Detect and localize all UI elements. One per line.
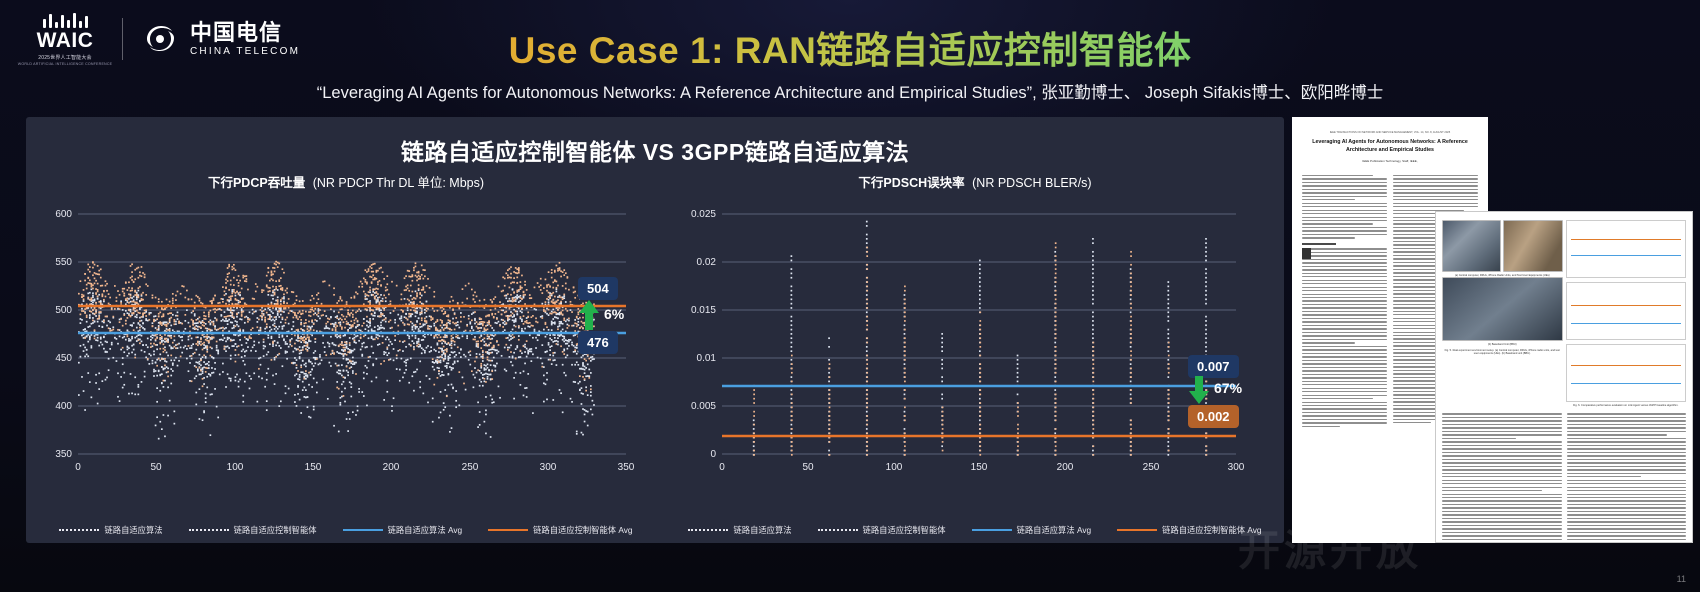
legend-item-1: 链路自适应控制智能体 — [818, 524, 946, 536]
arrow-down-icon-right — [1188, 376, 1210, 404]
svg-text:0.025: 0.025 — [691, 209, 716, 220]
arrow-up-icon-left — [578, 300, 600, 330]
legend-label-2: 链路自适应算法 Avg — [1017, 524, 1092, 536]
svg-text:0.02: 0.02 — [697, 257, 717, 268]
svg-text:500: 500 — [55, 305, 72, 316]
watermark: 开源开放 — [1238, 517, 1422, 578]
delta-label-right: 67% — [1214, 380, 1242, 396]
scatter-points-right — [753, 221, 1207, 456]
photo-central-computer — [1442, 220, 1501, 272]
figure-caption-left: Fig. 5. Real experiment environment setu… — [1442, 349, 1563, 356]
mini-chart-2 — [1566, 282, 1687, 340]
mini-chart-1 — [1566, 220, 1687, 278]
chart-pdsch-bler: 下行PDSCH误块率 (NR PDSCH BLER/s) 0.025 — [666, 172, 1284, 542]
figure-charts: Fig. 6. Comparative performance evaluati… — [1566, 220, 1687, 407]
badge-agent-avg-right: 0.002 — [1188, 405, 1239, 428]
legend-item-2: 链路自适应算法 Avg — [972, 524, 1092, 536]
svg-text:100: 100 — [886, 462, 903, 473]
chart-pdcp-throughput: 下行PDCP吞吐量 (NR PDCP Thr DL 单位: Mbps) — [26, 172, 666, 542]
figure-subcaption-a: (a) Central computer, RRUs, iPhone Radio… — [1442, 274, 1563, 277]
paper2-figures: (a) Central computer, RRUs, iPhone Radio… — [1436, 212, 1692, 409]
panel-title: 链路自适应控制智能体 VS 3GPP链路自适应算法 — [26, 133, 1284, 167]
paper2-column-left — [1442, 413, 1562, 542]
svg-text:350: 350 — [618, 462, 635, 473]
legend-left: 链路自适应算法 链路自适应控制智能体 链路自适应算法 Avg 链路自适应控制智能… — [26, 524, 666, 536]
photo-radio-units — [1503, 220, 1562, 272]
svg-text:0: 0 — [710, 449, 716, 460]
paper-authors: IEEE Publication Technology, Staff, IEEE… — [1304, 159, 1476, 163]
legend-item-1: 链路自适应控制智能体 — [189, 524, 317, 536]
legend-label-1: 链路自适应控制智能体 — [863, 524, 946, 536]
svg-text:150: 150 — [971, 462, 988, 473]
paper-venue: IEEE TRANSACTIONS ON NETWORK AND SERVICE… — [1304, 131, 1476, 134]
page-subtitle: “Leveraging AI Agents for Autonomous Net… — [0, 79, 1700, 103]
legend-label-0: 链路自适应算法 — [733, 524, 791, 536]
plot-area-right: 0.025 0.02 0.015 0.01 0.005 0 0 50 100 1… — [666, 196, 1284, 476]
legend-label-0: 链路自适应算法 — [104, 524, 162, 536]
svg-text:250: 250 — [462, 462, 479, 473]
svg-text:350: 350 — [55, 449, 72, 460]
svg-text:0: 0 — [719, 462, 725, 473]
svg-text:150: 150 — [305, 462, 322, 473]
photo-bbu — [1442, 277, 1563, 341]
svg-text:250: 250 — [1143, 462, 1160, 473]
svg-text:300: 300 — [1228, 462, 1245, 473]
y-ticks-right: 0.025 0.02 0.015 0.01 0.005 0 — [691, 209, 716, 460]
svg-text:400: 400 — [55, 401, 72, 412]
svg-text:450: 450 — [55, 353, 72, 364]
legend-item-0: 链路自适应算法 — [59, 524, 162, 536]
x-ticks-left: 0 50 100 150 200 250 300 350 — [75, 462, 635, 473]
legend-swatch-blue — [343, 529, 383, 531]
comparison-panel: 链路自适应控制智能体 VS 3GPP链路自适应算法 下行PDCP吞吐量 (NR … — [26, 117, 1284, 543]
delta-label-left: 6% — [604, 306, 624, 322]
legend-swatch-dotted — [818, 529, 858, 531]
chart-title-left-cn: 下行PDCP吞吐量 — [208, 176, 305, 190]
chart-title-left-unit: (NR PDCP Thr DL 单位: Mbps) — [313, 176, 484, 190]
legend-label-1: 链路自适应控制智能体 — [234, 524, 317, 536]
chart-title-right-unit: (NR PDSCH BLER/s) — [972, 176, 1091, 190]
legend-swatch-dotted — [688, 529, 728, 531]
y-ticks-left: 600 550 500 450 400 350 — [55, 209, 72, 460]
paper2-column-right — [1567, 413, 1687, 542]
figure-subcaption-b: (b) Baseband Unit (BBU) — [1442, 343, 1563, 346]
paper-thumbnail-page2: (a) Central computer, RRUs, iPhone Radio… — [1436, 212, 1692, 542]
plot-svg-right: 0.025 0.02 0.015 0.01 0.005 0 0 50 100 1… — [666, 196, 1284, 476]
scatter-points-left — [78, 261, 595, 440]
paper-head: IEEE TRANSACTIONS ON NETWORK AND SERVICE… — [1292, 117, 1488, 169]
badge-3gpp-avg-left: 476 — [578, 331, 618, 354]
svg-text:100: 100 — [227, 462, 244, 473]
legend-label-3: 链路自适应控制智能体 Avg — [533, 524, 632, 536]
paper2-columns — [1436, 409, 1692, 542]
svg-text:0.01: 0.01 — [697, 353, 717, 364]
figure-caption-right: Fig. 6. Comparative performance evaluati… — [1566, 404, 1687, 407]
mini-chart-3 — [1566, 344, 1687, 402]
legend-item-0: 链路自适应算法 — [688, 524, 791, 536]
figure-photos: (a) Central computer, RRUs, iPhone Radio… — [1442, 220, 1563, 407]
svg-text:200: 200 — [383, 462, 400, 473]
svg-text:600: 600 — [55, 209, 72, 220]
chart-title-right-cn: 下行PDSCH误块率 — [858, 176, 964, 190]
svg-text:300: 300 — [540, 462, 557, 473]
paper-title: Leveraging AI Agents for Autonomous Netw… — [1304, 139, 1476, 154]
svg-text:50: 50 — [150, 462, 162, 473]
legend-right: 链路自适应算法 链路自适应控制智能体 链路自适应算法 Avg 链路自适应控制智能… — [666, 524, 1284, 536]
legend-swatch-dotted — [189, 529, 229, 531]
svg-text:0.005: 0.005 — [691, 401, 716, 412]
paper-column-left — [1302, 175, 1387, 430]
page-number: 11 — [1677, 574, 1686, 584]
badge-3gpp-avg-right: 0.007 — [1188, 355, 1239, 378]
legend-item-3: 链路自适应控制智能体 Avg — [488, 524, 632, 536]
slide-header: WAIC 2025世界人工智能大会 WORLD ARTIFICIAL INTEL… — [0, 0, 1700, 75]
svg-text:550: 550 — [55, 257, 72, 268]
legend-swatch-orange — [1117, 529, 1157, 531]
legend-label-2: 链路自适应算法 Avg — [388, 524, 463, 536]
legend-item-2: 链路自适应算法 Avg — [343, 524, 463, 536]
legend-swatch-dotted — [59, 529, 99, 531]
svg-text:0.015: 0.015 — [691, 305, 716, 316]
plot-svg-left: 600 550 500 450 400 350 0 50 100 150 200 — [26, 196, 666, 476]
svg-text:200: 200 — [1057, 462, 1074, 473]
plot-area-left: 600 550 500 450 400 350 0 50 100 150 200 — [26, 196, 666, 476]
legend-swatch-orange — [488, 529, 528, 531]
legend-swatch-blue — [972, 529, 1012, 531]
svg-text:0: 0 — [75, 462, 81, 473]
page-title: Use Case 1: RAN链路自适应控制智能体 — [0, 20, 1700, 74]
chart-title-left: 下行PDCP吞吐量 (NR PDCP Thr DL 单位: Mbps) — [26, 172, 666, 191]
charts-row: 下行PDCP吞吐量 (NR PDCP Thr DL 单位: Mbps) — [26, 172, 1284, 542]
svg-text:50: 50 — [802, 462, 814, 473]
chart-title-right: 下行PDSCH误块率 (NR PDSCH BLER/s) — [666, 172, 1284, 191]
badge-agent-avg-left: 504 — [578, 277, 618, 300]
x-ticks-right: 0 50 100 150 200 250 300 — [719, 462, 1245, 473]
